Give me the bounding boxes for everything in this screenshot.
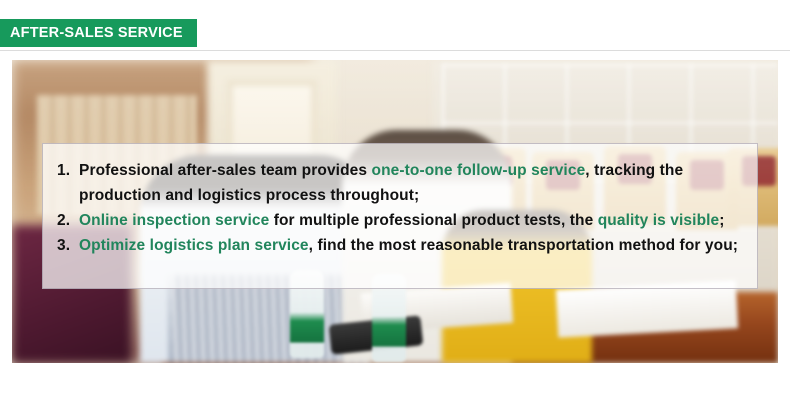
service-points-panel: 1. Professional after-sales team provide… xyxy=(42,143,758,289)
list-item: 3. Optimize logistics plan service, find… xyxy=(57,233,757,258)
body-text: Professional after-sales team provides xyxy=(79,162,372,179)
list-item: 1. Professional after-sales team provide… xyxy=(57,158,757,208)
body-text: for multiple professional product tests,… xyxy=(269,212,597,229)
list-item-text: Professional after-sales team provides o… xyxy=(79,162,683,204)
service-points-list: 1. Professional after-sales team provide… xyxy=(57,158,757,258)
header-divider xyxy=(0,50,790,51)
list-item-number: 3. xyxy=(57,233,70,258)
page-title: AFTER-SALES SERVICE xyxy=(10,25,183,41)
highlighted-phrase: Optimize logistics plan service xyxy=(79,237,309,254)
section-banner: AFTER-SALES SERVICE xyxy=(0,19,197,47)
body-text: , find the most reasonable transportatio… xyxy=(309,237,738,254)
highlighted-phrase: one-to-one follow-up service xyxy=(372,162,586,179)
highlighted-phrase: Online inspection service xyxy=(79,212,269,229)
list-item-number: 1. xyxy=(57,158,70,183)
list-item-number: 2. xyxy=(57,208,70,233)
list-item: 2. Online inspection service for multipl… xyxy=(57,208,757,233)
list-item-text: Optimize logistics plan service, find th… xyxy=(79,237,738,254)
highlighted-phrase: quality is visible xyxy=(598,212,720,229)
body-text: ; xyxy=(719,212,724,229)
list-item-text: Online inspection service for multiple p… xyxy=(79,212,725,229)
